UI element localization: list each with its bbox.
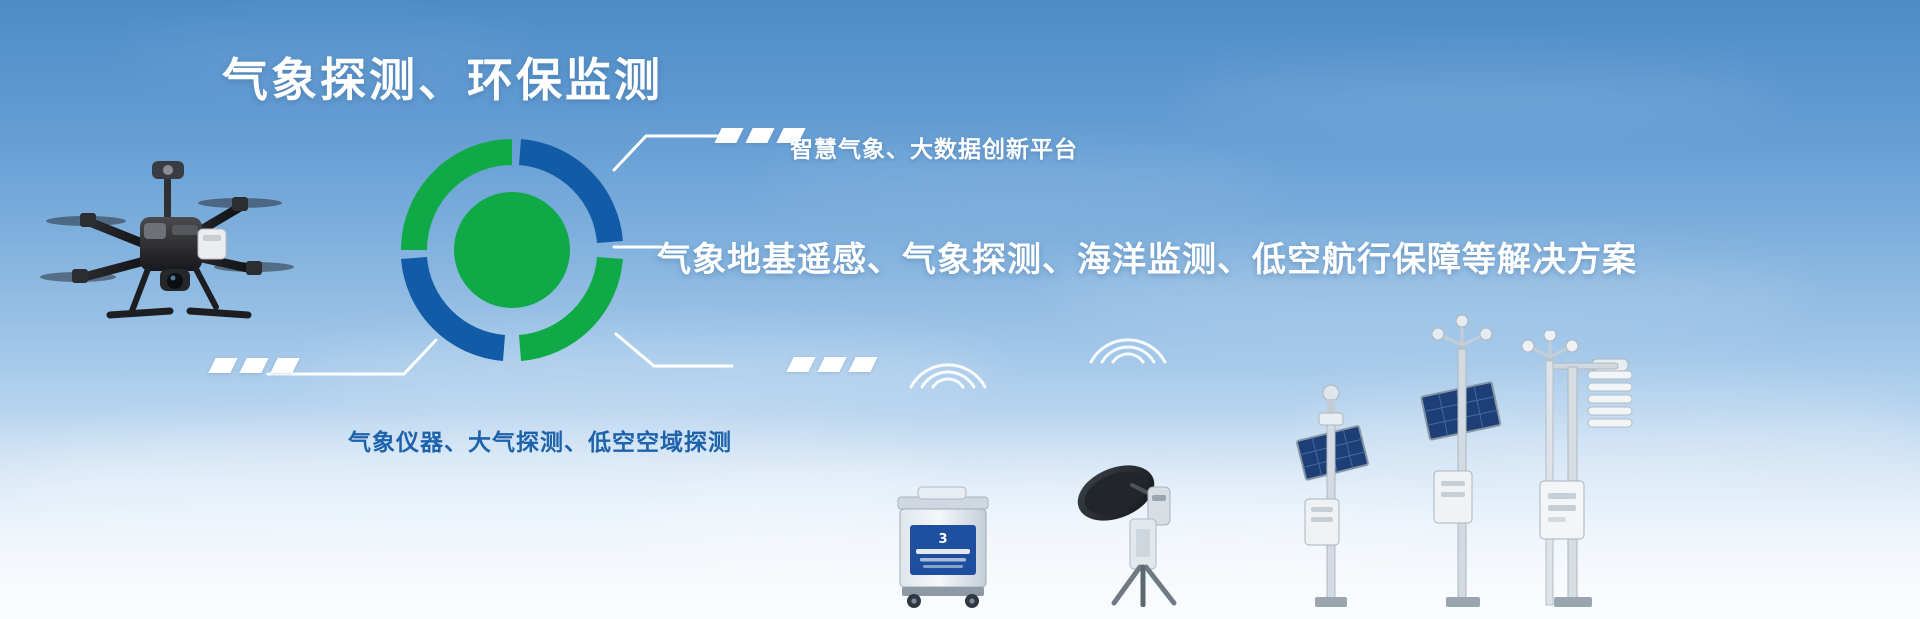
solar-mast-station-1 (1275, 381, 1385, 611)
connector-line-bottom-right (614, 328, 814, 378)
slash-marks-bottom-right (790, 357, 874, 372)
weather-station-equipment (1510, 331, 1640, 611)
callout-main-label: 气象地基遥感、气象探测、海洋监测、低空航行保障等解决方案 (657, 232, 1637, 281)
lidar-box-equipment: 3 (888, 483, 998, 611)
signal-waves-box (905, 345, 991, 391)
callout-bottom-label: 气象仪器、大气探测、低空空域探测 (348, 423, 732, 457)
ring-logo (392, 130, 632, 370)
solar-mast-station-2 (1400, 311, 1520, 611)
slash-marks-bottom-left (212, 358, 296, 373)
svg-text:3: 3 (938, 532, 947, 547)
callout-top-label: 智慧气象、大数据创新平台 (790, 130, 1078, 164)
signal-waves-dish (1085, 320, 1171, 366)
satellite-dish-equipment (1070, 457, 1200, 607)
page-title: 气象探测、环保监测 (222, 52, 663, 110)
drone-illustration (40, 155, 300, 340)
cloud-wisp (1180, 60, 1780, 130)
